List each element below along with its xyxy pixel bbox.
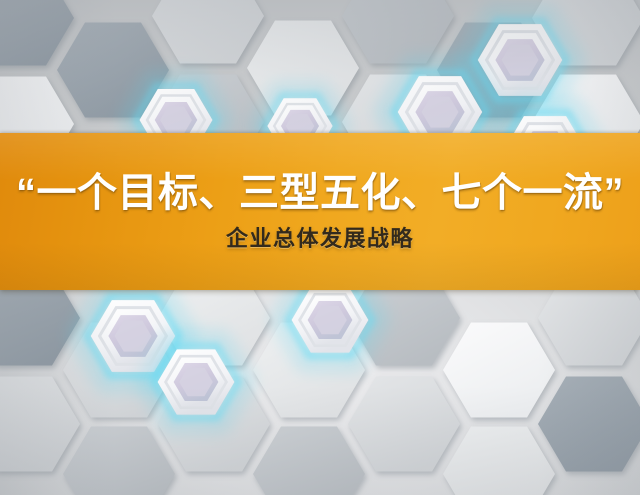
hexagon-tile bbox=[0, 376, 80, 471]
hexagon-tile bbox=[443, 426, 555, 495]
page-subtitle: 企业总体发展战略 bbox=[226, 220, 414, 252]
hexagon-tile bbox=[152, 0, 264, 64]
hexagon-tile bbox=[63, 426, 175, 495]
hexagon-tile bbox=[538, 376, 640, 471]
presentation-slide: “一个目标、三型五化、七个一流” 企业总体发展战略 bbox=[0, 0, 640, 495]
hexagon-tile bbox=[443, 322, 555, 417]
page-title: “一个目标、三型五化、七个一流” bbox=[6, 171, 634, 216]
glowing-hexagon bbox=[144, 338, 248, 426]
title-banner-content: “一个目标、三型五化、七个一流” 企业总体发展战略 bbox=[0, 133, 640, 290]
hexagon-tile bbox=[348, 376, 460, 471]
hexagon-tile bbox=[0, 0, 74, 66]
hexagon-tile bbox=[253, 426, 365, 495]
title-banner: “一个目标、三型五化、七个一流” 企业总体发展战略 bbox=[0, 133, 640, 290]
hexagon-tile bbox=[342, 0, 454, 64]
